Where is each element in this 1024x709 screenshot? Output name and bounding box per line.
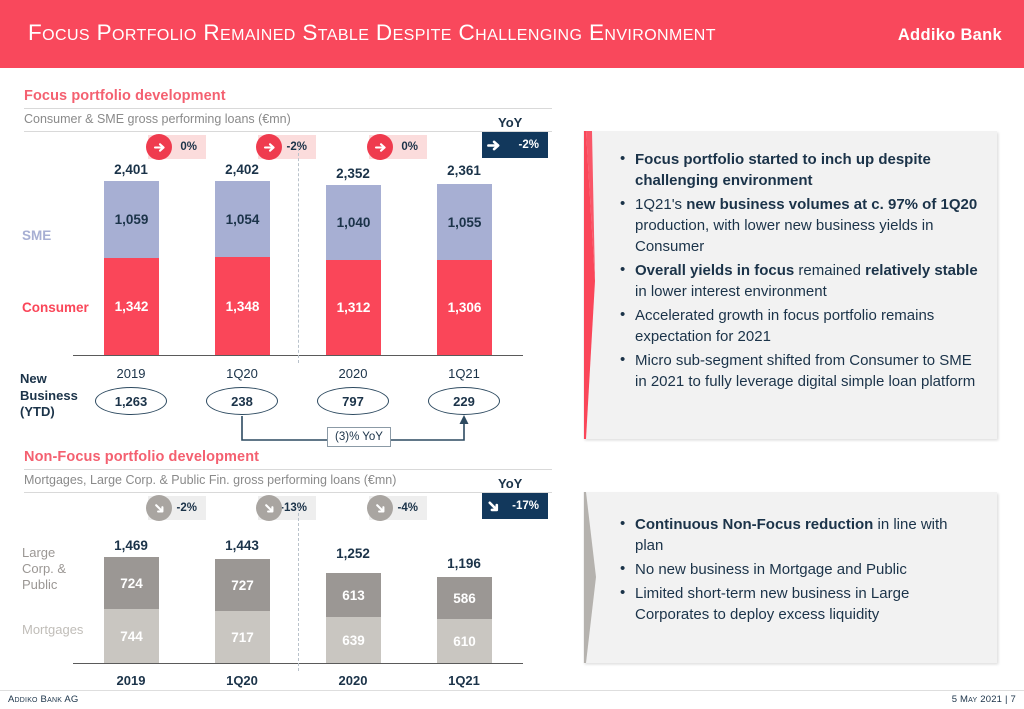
focus-bar-2019-sme: 1,059 xyxy=(104,181,159,258)
nonfocus-yoy-pill-3: -4% xyxy=(369,496,427,520)
nonfocus-bar-1Q21: 586 610 xyxy=(437,577,492,663)
page-title: Focus Portfolio Remained Stable Despite … xyxy=(28,20,716,46)
focus-commentary-panel: Focus portfolio started to inch up despi… xyxy=(583,131,997,439)
focus-bar-total-1Q20: 2,402 xyxy=(206,162,278,177)
nonfocus-section-subtitle: Mortgages, Large Corp. & Public Fin. gro… xyxy=(24,473,396,487)
new-business-oval-1Q21: 229 xyxy=(428,387,500,415)
focus-section-subtitle: Consumer & SME gross performing loans (€… xyxy=(24,112,291,126)
focus-bar-1Q21: 1,055 1,306 xyxy=(437,184,492,355)
focus-bar-total-2020: 2,352 xyxy=(317,166,389,181)
list-item: No new business in Mortgage and Public xyxy=(619,559,979,580)
slide-root: Focus Portfolio Remained Stable Despite … xyxy=(0,0,1024,709)
bullet-text-bold: Overall yields in focus xyxy=(635,262,794,279)
focus-legend-sme: SME xyxy=(22,228,51,243)
nonfocus-cat-2019: 2019 xyxy=(95,673,167,688)
list-item: Micro sub-segment shifted from Consumer … xyxy=(619,350,979,392)
focus-commentary-list: Focus portfolio started to inch up despi… xyxy=(619,149,979,392)
arrow-right-icon xyxy=(480,132,506,158)
bullet-text: No new business in Mortgage and Public xyxy=(635,561,907,578)
focus-bar-2020-consumer: 1,312 xyxy=(326,260,381,355)
bullet-text: Focus portfolio started to inch up despi… xyxy=(635,151,931,189)
bullet-text: Limited short-term new business in Large… xyxy=(635,585,909,623)
focus-cat-2019: 2019 xyxy=(95,366,167,381)
focus-bar-2019-consumer: 1,342 xyxy=(104,258,159,355)
nonfocus-period-separator xyxy=(298,508,299,671)
nonfocus-yoy-label: YoY xyxy=(498,476,522,491)
nonfocus-bar-2020-large: 613 xyxy=(326,573,381,617)
slide-header: Focus Portfolio Remained Stable Despite … xyxy=(0,0,1024,68)
arrow-down-right-icon xyxy=(146,495,172,521)
list-item: Focus portfolio started to inch up despi… xyxy=(619,149,979,191)
focus-title-rule xyxy=(24,108,552,109)
footer-date-page: 5 May 2021 | 7 xyxy=(952,694,1016,705)
nonfocus-cat-1Q20: 1Q20 xyxy=(206,673,278,688)
new-business-label-2: Business xyxy=(20,388,78,403)
nonfocus-bar-2019-mortgages: 744 xyxy=(104,609,159,663)
nonfocus-legend-large-3: Public xyxy=(22,577,57,592)
focus-period-separator xyxy=(298,148,299,363)
list-item: Accelerated growth in focus portfolio re… xyxy=(619,305,979,347)
focus-bar-1Q21-sme: 1,055 xyxy=(437,184,492,260)
nonfocus-bar-total-1Q20: 1,443 xyxy=(206,538,278,553)
nonfocus-bar-2019-large: 724 xyxy=(104,557,159,609)
nonfocus-bar-1Q21-mortgages: 610 xyxy=(437,619,492,663)
nonfocus-bar-2019: 724 744 xyxy=(104,557,159,663)
nonfocus-cat-2020: 2020 xyxy=(317,673,389,688)
nonfocus-yoy-pill-total: -17% xyxy=(482,494,548,518)
bullet-text-bold: relatively stable xyxy=(865,262,978,279)
list-item: Continuous Non-Focus reduction in line w… xyxy=(619,514,979,556)
arrow-right-icon xyxy=(367,134,393,160)
list-item: 1Q21's new business volumes at c. 97% of… xyxy=(619,194,979,257)
focus-yoy-pill-2: -2% xyxy=(258,135,316,159)
nonfocus-legend-large-1: Large xyxy=(22,545,55,560)
nonfocus-bar-2020-mortgages: 639 xyxy=(326,617,381,663)
nonfocus-title-rule xyxy=(24,469,552,470)
nonfocus-bar-1Q20-large: 727 xyxy=(215,559,270,611)
list-item: Overall yields in focus remained relativ… xyxy=(619,260,979,302)
focus-cat-2020: 2020 xyxy=(317,366,389,381)
focus-bar-1Q20-consumer: 1,348 xyxy=(215,257,270,355)
arrow-down-right-icon xyxy=(480,493,506,519)
bullet-text-bold: new business volumes at c. 97% of 1Q20 xyxy=(686,196,977,213)
footer-company: Addiko Bank AG xyxy=(8,694,79,705)
focus-bar-1Q20: 1,054 1,348 xyxy=(215,181,270,355)
arrow-down-right-icon xyxy=(256,495,282,521)
focus-subtitle-rule xyxy=(24,131,552,132)
nonfocus-cat-1Q21: 1Q21 xyxy=(428,673,500,688)
focus-section-title: Focus portfolio development xyxy=(24,88,226,104)
bullet-text: 1Q21's xyxy=(635,196,686,213)
yoy-connector-label: (3)% YoY xyxy=(327,427,391,447)
nonfocus-legend-large: Large Corp. & Public xyxy=(22,545,66,593)
focus-yoy-pill-total: -2% xyxy=(482,133,548,157)
focus-bar-1Q20-sme: 1,054 xyxy=(215,181,270,257)
bullet-text: in lower interest environment xyxy=(635,283,827,300)
panel-accent-wedge-red xyxy=(583,131,609,439)
bullet-text: Micro sub-segment shifted from Consumer … xyxy=(635,352,975,390)
nonfocus-subtitle-rule xyxy=(24,492,552,493)
focus-bar-1Q21-consumer: 1,306 xyxy=(437,260,492,355)
focus-legend-consumer: Consumer xyxy=(22,300,89,315)
focus-yoy-pill-3: 0% xyxy=(369,135,427,159)
focus-bar-2020: 1,040 1,312 xyxy=(326,185,381,355)
focus-cat-1Q21: 1Q21 xyxy=(428,366,500,381)
panel-accent-wedge-gray xyxy=(583,492,609,663)
nonfocus-bar-total-1Q21: 1,196 xyxy=(428,556,500,571)
focus-bar-total-2019: 2,401 xyxy=(95,162,167,177)
bullet-text-bold: Continuous Non-Focus reduction xyxy=(635,516,873,533)
arrow-right-icon xyxy=(256,134,282,160)
nonfocus-commentary-list: Continuous Non-Focus reduction in line w… xyxy=(619,514,979,625)
new-business-oval-2020: 797 xyxy=(317,387,389,415)
bullet-text: production, with lower new business yiel… xyxy=(635,217,933,255)
new-business-label-1: New xyxy=(20,371,47,386)
nonfocus-section-title: Non-Focus portfolio development xyxy=(24,449,259,465)
focus-bar-2020-sme: 1,040 xyxy=(326,185,381,260)
nonfocus-bar-2020: 613 639 xyxy=(326,573,381,663)
nonfocus-bar-1Q20-mortgages: 717 xyxy=(215,611,270,663)
new-business-oval-2019: 1,263 xyxy=(95,387,167,415)
nonfocus-commentary-panel: Continuous Non-Focus reduction in line w… xyxy=(583,492,997,663)
new-business-label-3: (YTD) xyxy=(20,404,55,419)
focus-bar-2019: 1,059 1,342 xyxy=(104,181,159,355)
focus-yoy-label: YoY xyxy=(498,115,522,130)
nonfocus-legend-mortgages: Mortgages xyxy=(22,622,83,637)
footer-rule xyxy=(0,690,1024,691)
nonfocus-bar-total-2020: 1,252 xyxy=(317,546,389,561)
nonfocus-bar-total-2019: 1,469 xyxy=(95,538,167,553)
nonfocus-yoy-pill-2: -13% xyxy=(258,496,316,520)
arrow-right-icon xyxy=(146,134,172,160)
addiko-bank-logo: Addiko Bank xyxy=(898,26,1002,45)
new-business-label: New Business (YTD) xyxy=(20,371,78,421)
list-item: Limited short-term new business in Large… xyxy=(619,583,979,625)
focus-cat-1Q20: 1Q20 xyxy=(206,366,278,381)
arrow-down-right-icon xyxy=(367,495,393,521)
focus-yoy-pill-1: 0% xyxy=(148,135,206,159)
bullet-text: Accelerated growth in focus portfolio re… xyxy=(635,307,934,345)
nonfocus-bar-1Q21-large: 586 xyxy=(437,577,492,619)
new-business-oval-1Q20: 238 xyxy=(206,387,278,415)
nonfocus-legend-large-2: Corp. & xyxy=(22,561,66,576)
nonfocus-bar-1Q20: 727 717 xyxy=(215,559,270,663)
bullet-text: remained xyxy=(794,262,865,279)
nonfocus-yoy-pill-1: -2% xyxy=(148,496,206,520)
focus-bar-total-1Q21: 2,361 xyxy=(428,163,500,178)
